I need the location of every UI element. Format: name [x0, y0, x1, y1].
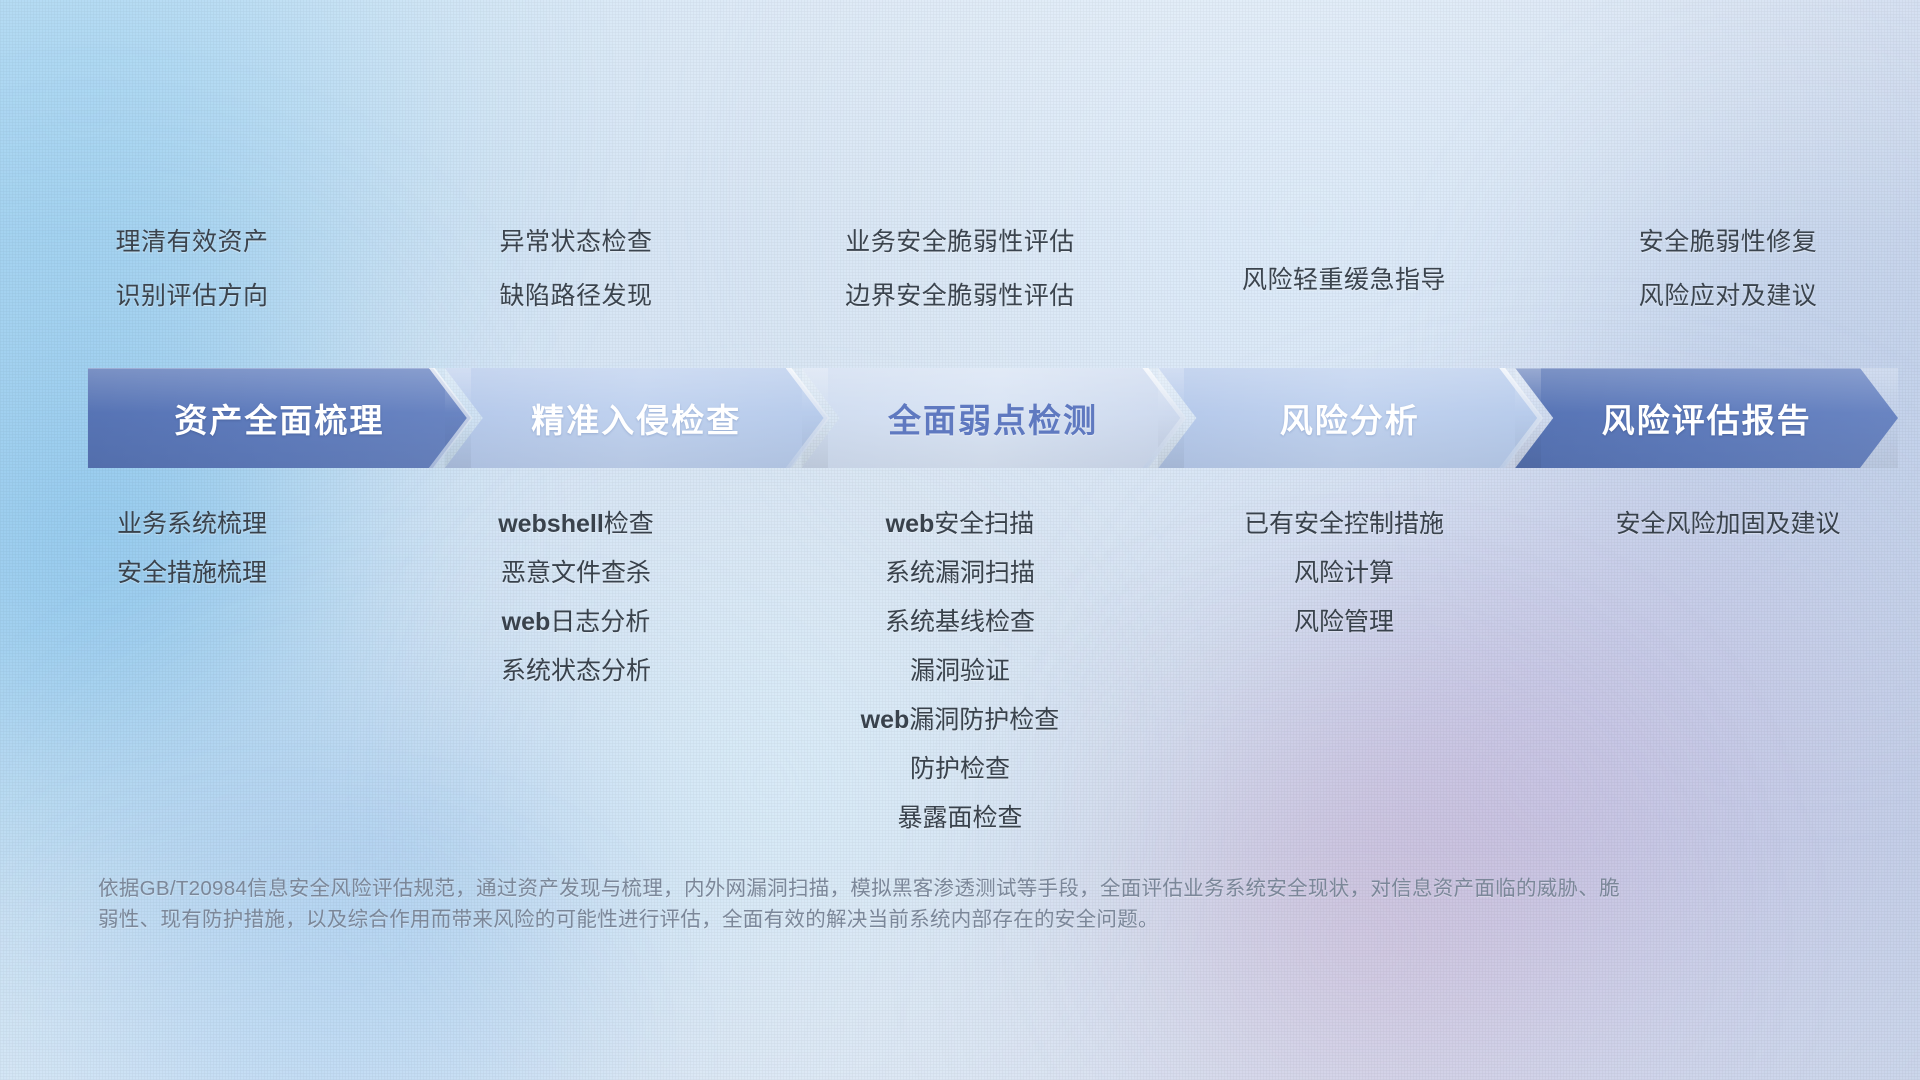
- top-notes-weakness-detection: 业务安全脆弱性评估 边界安全脆弱性评估: [768, 222, 1152, 342]
- stage-item-bold-prefix: web: [502, 608, 551, 636]
- stage-chevron-risk-analysis[interactable]: 风险分析: [1158, 368, 1541, 468]
- top-notes-row: 理清有效资产 识别评估方向 异常状态检查 缺陷路径发现 业务安全脆弱性评估 边界…: [0, 222, 1920, 342]
- stage-items-assessment-report: 安全风险加固及建议: [1536, 500, 1920, 549]
- stage-item-text: 已有安全控制措施: [1244, 510, 1444, 538]
- stage-items-weakness-detection: web安全扫描 系统漏洞扫描 系统基线检查 漏洞验证 web漏洞防护检查 防护检…: [768, 500, 1152, 843]
- stage-item: 恶意文件查杀: [501, 549, 651, 598]
- stage-item: web日志分析: [502, 598, 651, 647]
- stage-item: 防护检查: [910, 745, 1010, 794]
- stage-label: 资产全面梳理: [174, 394, 384, 442]
- stage-item-text: 日志分析: [550, 608, 650, 636]
- stage-item-text: 系统漏洞扫描: [885, 559, 1035, 587]
- stage-item-text: 系统基线检查: [885, 608, 1035, 636]
- stage-item-text: 安全扫描: [934, 510, 1034, 538]
- top-notes-assessment-report: 安全脆弱性修复 风险应对及建议: [1536, 222, 1920, 342]
- stage-item-text: 风险管理: [1294, 608, 1394, 636]
- process-chevron-banner: 资产全面梳理 精准入侵检查 全面弱点检测 风险分析 风险评估报告: [88, 368, 1898, 468]
- top-notes-asset-inventory: 理清有效资产 识别评估方向: [0, 222, 384, 342]
- stage-item-text: 漏洞防护检查: [909, 706, 1059, 734]
- top-notes-risk-analysis: 风险轻重缓急指导: [1152, 222, 1536, 342]
- stage-item: 系统基线检查: [885, 598, 1035, 647]
- top-note: 风险轻重缓急指导: [1242, 260, 1446, 296]
- stage-item-text: 系统状态分析: [501, 657, 651, 685]
- stage-item: 业务系统梳理: [117, 500, 267, 549]
- stage-item: web安全扫描: [886, 500, 1035, 549]
- top-note: 理清有效资产: [115, 222, 268, 258]
- stage-chevron-asset-inventory[interactable]: 资产全面梳理: [88, 368, 471, 468]
- top-note: 业务安全脆弱性评估: [845, 222, 1075, 258]
- stage-item-text: 风险计算: [1294, 559, 1394, 587]
- stage-items-asset-inventory: 业务系统梳理 安全措施梳理: [0, 500, 384, 598]
- stage-items-intrusion-check: webshell检查 恶意文件查杀 web日志分析 系统状态分析: [384, 500, 768, 696]
- stage-chevron-weakness-detection[interactable]: 全面弱点检测: [802, 368, 1185, 468]
- stage-item-bold-prefix: web: [861, 706, 910, 734]
- stage-item: 安全措施梳理: [117, 549, 267, 598]
- stage-item-text: 安全措施梳理: [117, 559, 267, 587]
- stage-item: 暴露面检查: [897, 794, 1022, 843]
- stage-item: 风险计算: [1294, 549, 1394, 598]
- stage-item-bold-prefix: web: [886, 510, 935, 538]
- stage-item: 系统状态分析: [501, 647, 651, 696]
- stage-item-text: 防护检查: [910, 755, 1010, 783]
- stage-label: 风险分析: [1280, 394, 1420, 442]
- stage-label: 全面弱点检测: [888, 394, 1098, 442]
- stage-item: 已有安全控制措施: [1244, 500, 1444, 549]
- stage-item-text: 检查: [604, 510, 654, 538]
- stage-item: webshell检查: [498, 500, 654, 549]
- stage-item-text: 业务系统梳理: [117, 510, 267, 538]
- top-note: 安全脆弱性修复: [1639, 222, 1818, 258]
- top-note: 风险应对及建议: [1639, 276, 1818, 312]
- stage-item-text: 暴露面检查: [897, 804, 1022, 832]
- stage-item: 漏洞验证: [910, 647, 1010, 696]
- stage-label: 风险评估报告: [1602, 394, 1812, 442]
- stage-item-text: 恶意文件查杀: [501, 559, 651, 587]
- stage-label: 精准入侵检查: [531, 394, 741, 442]
- stage-item-text: 安全风险加固及建议: [1615, 510, 1840, 538]
- stage-item: 风险管理: [1294, 598, 1394, 647]
- stage-chevron-intrusion-check[interactable]: 精准入侵检查: [445, 368, 828, 468]
- stage-chevron-assessment-report[interactable]: 风险评估报告: [1515, 368, 1898, 468]
- footer-description: 依据GB/T20984信息安全风险评估规范，通过资产发现与梳理，内外网漏洞扫描，…: [98, 873, 1620, 935]
- top-notes-intrusion-check: 异常状态检查 缺陷路径发现: [384, 222, 768, 342]
- top-note: 识别评估方向: [115, 276, 268, 312]
- top-note: 边界安全脆弱性评估: [845, 276, 1075, 312]
- stage-item-bold-prefix: webshell: [498, 510, 604, 538]
- top-note: 缺陷路径发现: [499, 276, 652, 312]
- top-note: 异常状态检查: [499, 222, 652, 258]
- stage-items-risk-analysis: 已有安全控制措施 风险计算 风险管理: [1152, 500, 1536, 647]
- stage-item-text: 漏洞验证: [910, 657, 1010, 685]
- stage-item: 安全风险加固及建议: [1615, 500, 1840, 549]
- diagram-content: 理清有效资产 识别评估方向 异常状态检查 缺陷路径发现 业务安全脆弱性评估 边界…: [0, 0, 1920, 1080]
- stage-item: 系统漏洞扫描: [885, 549, 1035, 598]
- stage-item: web漏洞防护检查: [861, 696, 1060, 745]
- stage-details-row: 业务系统梳理 安全措施梳理 webshell检查 恶意文件查杀 web日志分析 …: [0, 500, 1920, 730]
